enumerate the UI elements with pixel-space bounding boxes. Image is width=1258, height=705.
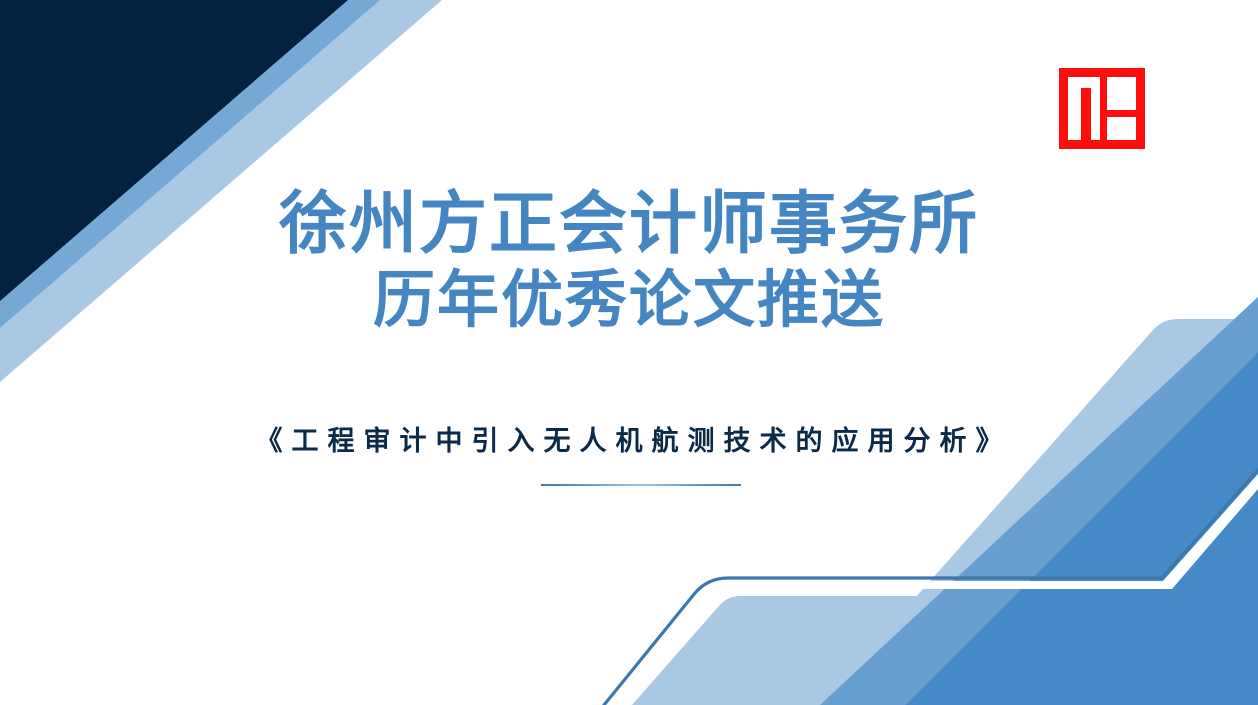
page-title: 徐州方正会计师事务所 历年优秀论文推送 — [0, 186, 1258, 336]
title-line-2: 历年优秀论文推送 — [0, 266, 1258, 335]
subtitle-divider — [541, 484, 741, 486]
slide-content: 徐州方正会计师事务所 历年优秀论文推送 《工程审计中引入无人机航测技术的应用分析… — [0, 0, 1258, 705]
logo-right-bottom-cutout — [1107, 117, 1136, 140]
company-logo-icon — [1059, 68, 1145, 149]
logo-right-top-cutout — [1107, 77, 1136, 110]
company-logo — [1059, 68, 1145, 149]
paper-subtitle: 《工程审计中引入无人机航测技术的应用分析》 — [0, 424, 1258, 459]
title-line-1: 徐州方正会计师事务所 — [0, 186, 1258, 262]
slide-canvas: 徐州方正会计师事务所 历年优秀论文推送 《工程审计中引入无人机航测技术的应用分析… — [0, 0, 1258, 705]
